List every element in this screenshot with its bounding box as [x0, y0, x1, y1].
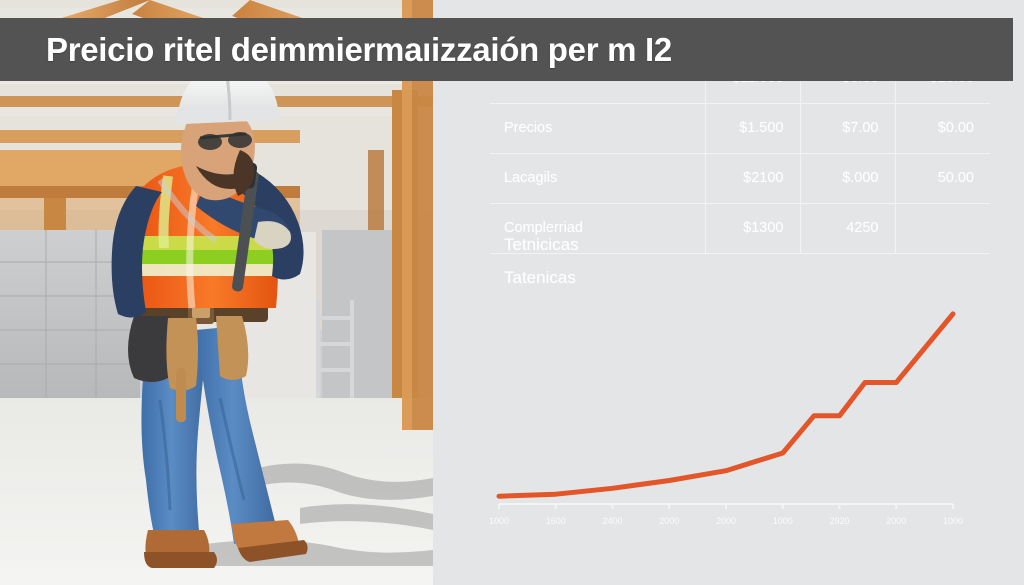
photo-illustration: [0, 0, 433, 585]
x-axis-tick-label: 1000: [489, 516, 509, 526]
slide-canvas: Materrial Cestes Tetnicas $11.000 $6.00 …: [0, 0, 1024, 585]
table-row: Precios $1.500 $7.00 $0.00: [490, 103, 990, 153]
trend-line-chart: 100016002400200020001000292020001000: [453, 290, 1013, 555]
page-title: Preicio ritel deimmiermaıizzaión per m I…: [0, 31, 672, 69]
row-value-material: $2100: [705, 153, 800, 203]
chart-svg: 100016002400200020001000292020001000: [453, 290, 1013, 555]
row-value-tetnicas: [895, 203, 990, 253]
x-axis-tick-label: 2000: [886, 516, 906, 526]
x-axis-tick-label: 2400: [602, 516, 622, 526]
row-value-material: $1.500: [705, 103, 800, 153]
x-axis-tick-label: 2000: [716, 516, 736, 526]
row-label: Precios: [490, 103, 705, 153]
x-axis-tick-label: 2920: [829, 516, 849, 526]
trend-line-series: [499, 314, 953, 496]
x-axis-tick-label: 1600: [546, 516, 566, 526]
table-row: Lacagils $2100 $.000 50.00: [490, 153, 990, 203]
row-value-cestes: $.000: [800, 153, 895, 203]
caption-list: Tetnicicas Tatenicas: [504, 228, 804, 294]
x-axis-tick-labels: 100016002400200020001000292020001000: [489, 516, 963, 526]
x-axis-tick-label: 1000: [943, 516, 963, 526]
row-value-cestes: 4250: [800, 203, 895, 253]
row-value-tetnicas: $0.00: [895, 103, 990, 153]
x-axis-tick-label: 1000: [773, 516, 793, 526]
title-banner: Preicio ritel deimmiermaıizzaión per m I…: [0, 18, 1013, 81]
x-axis-tick-label: 2000: [659, 516, 679, 526]
construction-worker-photo: [0, 0, 433, 585]
data-panel: Materrial Cestes Tetnicas $11.000 $6.00 …: [433, 0, 1024, 585]
row-value-tetnicas: 50.00: [895, 153, 990, 203]
caption-line-1: Tetnicicas: [504, 228, 804, 261]
row-label: Lacagils: [490, 153, 705, 203]
row-value-cestes: $7.00: [800, 103, 895, 153]
table-body: $11.000 $6.00 $13.00 Precios $1.500 $7.0…: [490, 53, 990, 253]
